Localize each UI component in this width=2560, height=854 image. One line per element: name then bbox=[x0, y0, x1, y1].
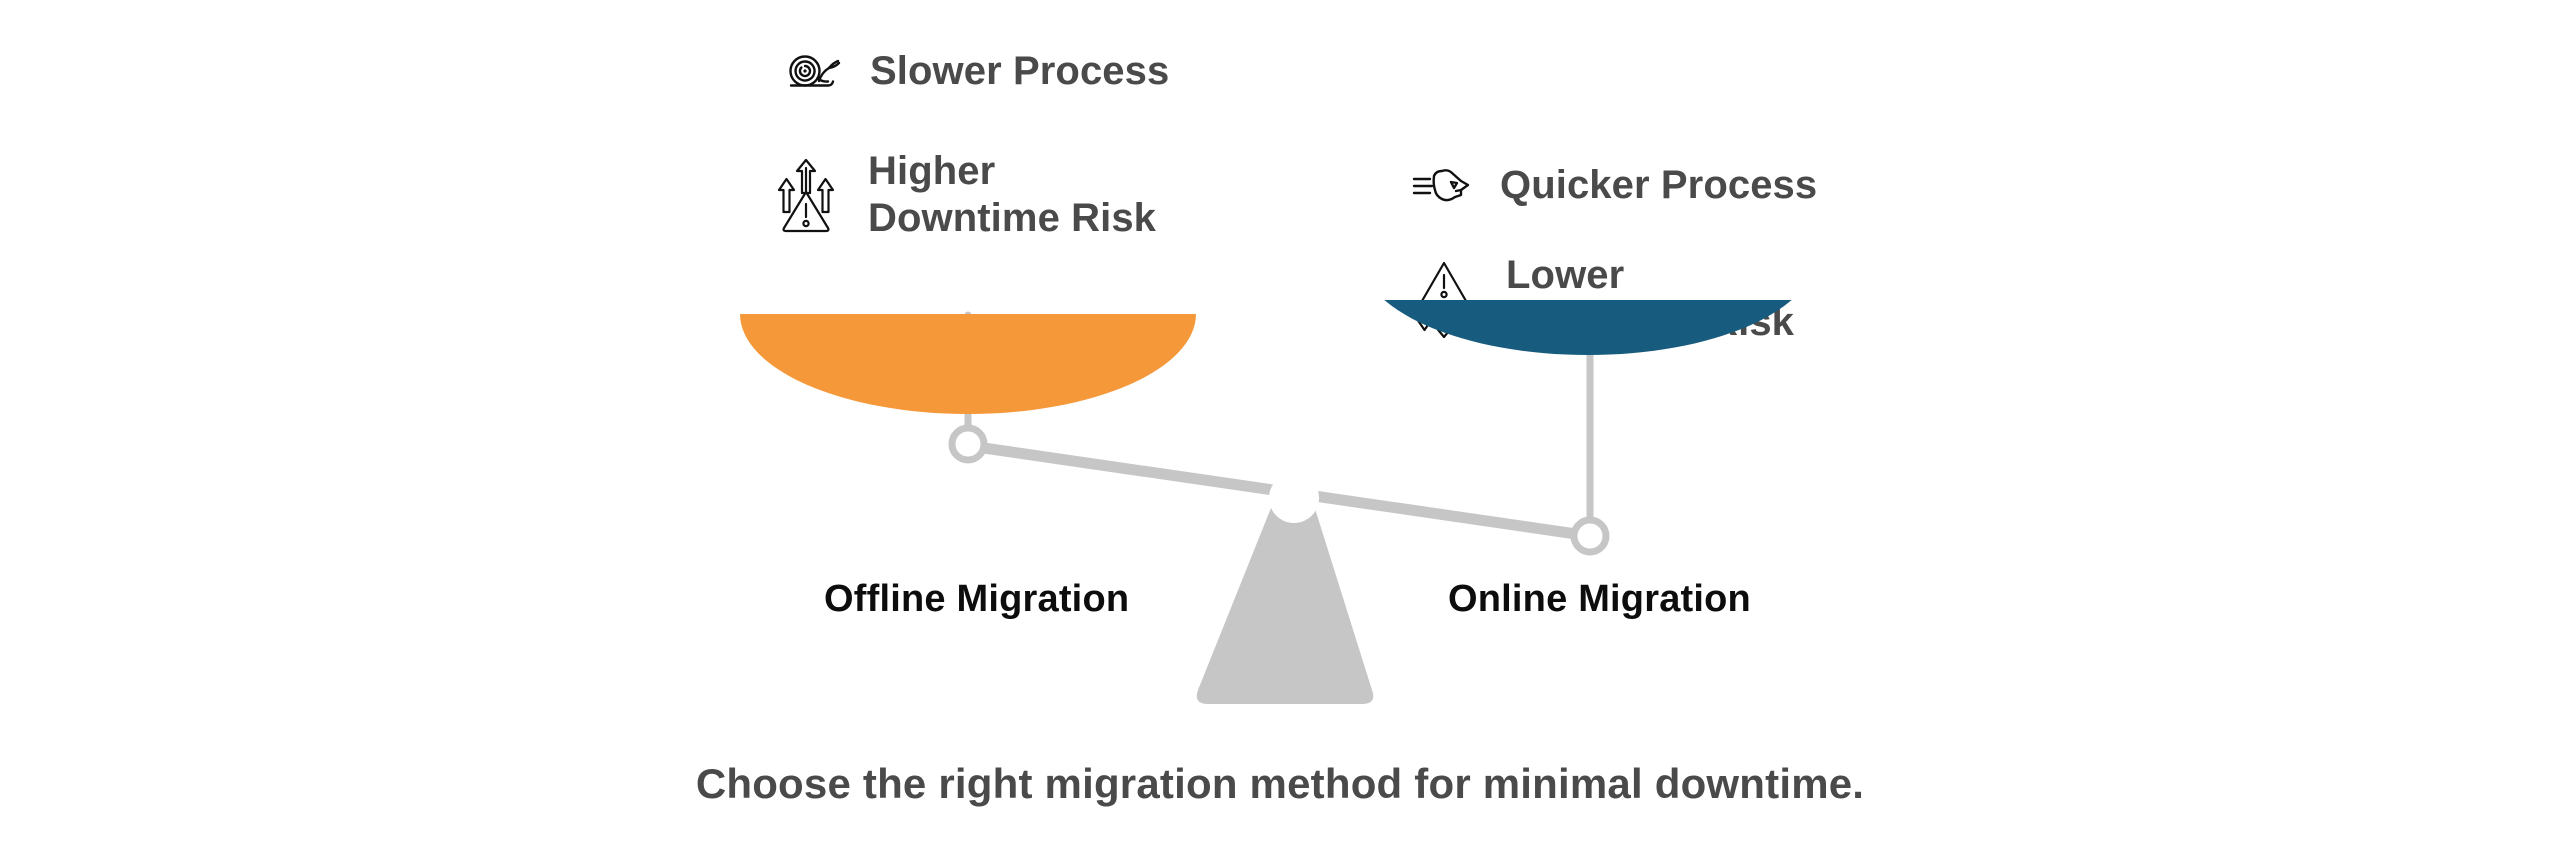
snail-icon bbox=[784, 49, 844, 95]
feature-label: Higher Downtime Risk bbox=[868, 148, 1156, 242]
online-pan bbox=[1360, 300, 1816, 355]
online-migration-label: Online Migration bbox=[1448, 578, 1751, 621]
feature-label: Quicker Process bbox=[1500, 162, 1817, 209]
right-hanger-ring bbox=[1574, 520, 1606, 552]
bottom-caption: Choose the right migration method for mi… bbox=[0, 760, 2560, 808]
offline-migration-label: Offline Migration bbox=[824, 578, 1129, 621]
feature-slower-process: Slower Process bbox=[784, 48, 1169, 95]
speed-animal-head-icon bbox=[1412, 164, 1474, 208]
feature-quicker-process: Quicker Process bbox=[1412, 162, 1817, 209]
feature-higher-downtime-risk: Higher Downtime Risk bbox=[770, 148, 1156, 242]
fulcrum-pivot-hole bbox=[1269, 473, 1319, 523]
migration-balance-infographic: Slower Process Higher Downtime Risk bbox=[0, 0, 2560, 854]
warning-triangle-up-arrows-icon bbox=[770, 154, 842, 238]
feature-label: Slower Process bbox=[870, 48, 1169, 95]
balance-scale-graphic bbox=[700, 300, 1860, 720]
left-hanger-ring bbox=[952, 428, 984, 460]
offline-pan bbox=[740, 314, 1196, 414]
